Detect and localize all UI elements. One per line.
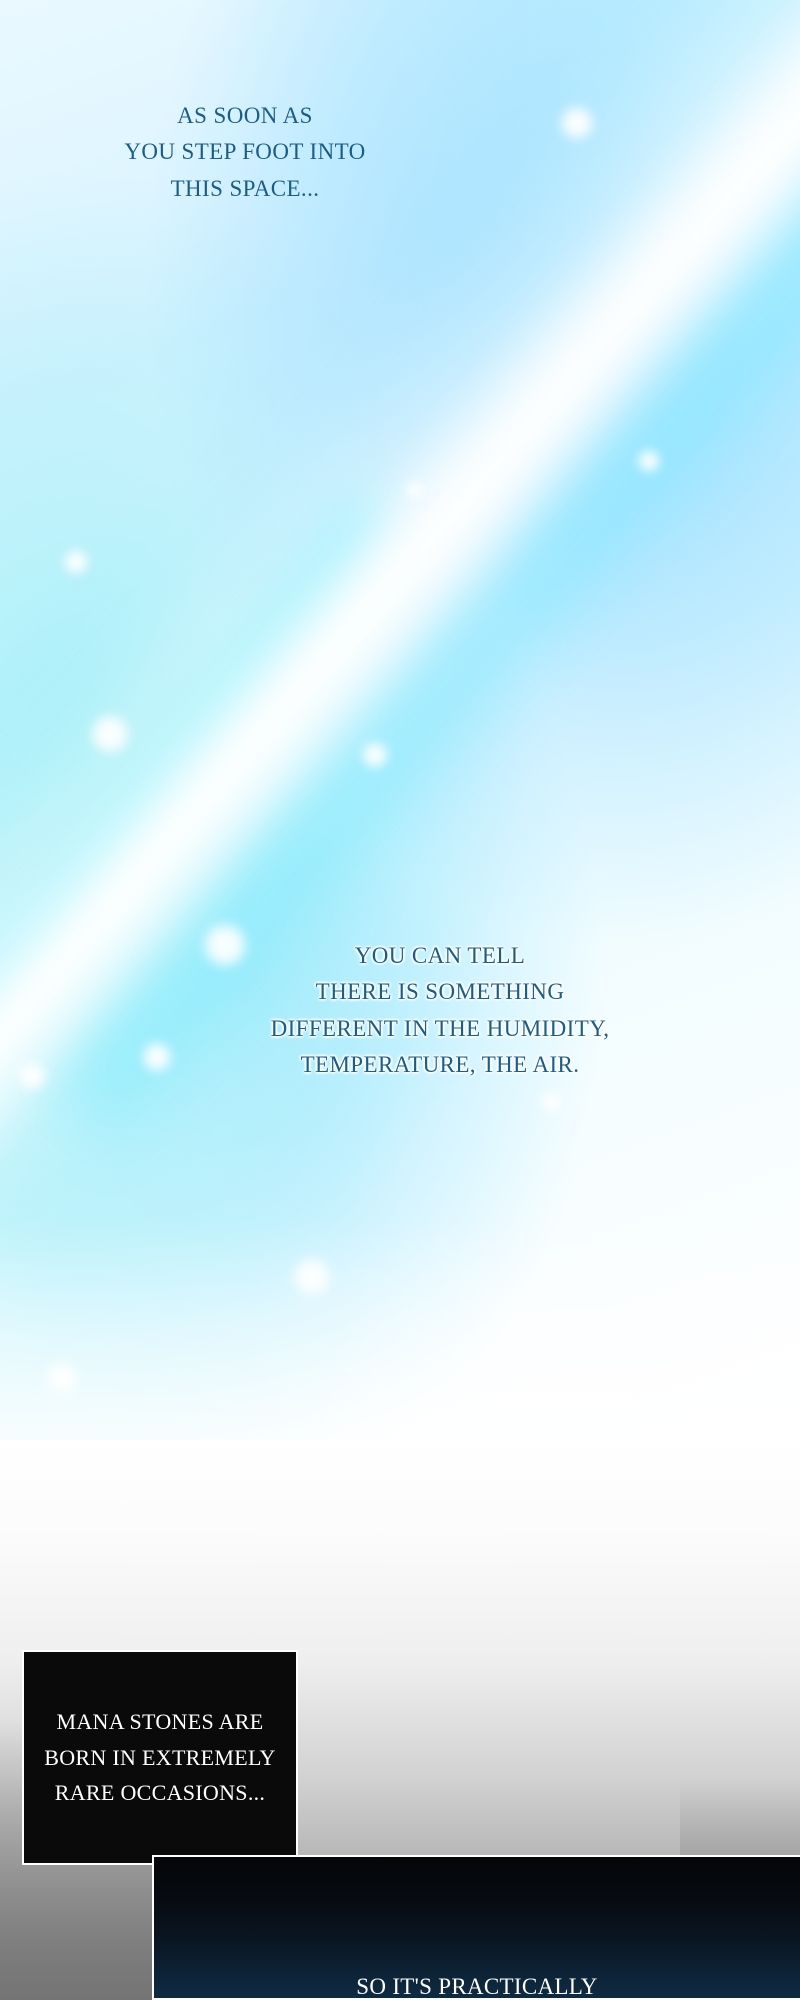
caption-sensation-line-4: TEMPERATURE, THE AIR. [190,1047,690,1083]
caption-intro: AS SOON AS YOU STEP FOOT INTO THIS SPACE… [60,98,430,207]
panel-practically: SO IT'S PRACTICALLY [152,1855,800,2000]
comic-page: AS SOON AS YOU STEP FOOT INTO THIS SPACE… [0,0,800,2000]
caption-sensation-line-2: THERE IS SOMETHING [190,974,690,1010]
bokeh-dot-icon [360,740,390,770]
bokeh-dot-icon [16,1060,48,1092]
bokeh-dot-icon [62,548,90,576]
panel-practically-text: SO IT'S PRACTICALLY [154,1969,800,2000]
panel-mana-stones-text: MANA STONES ARE BORN IN EXTREMELY RARE O… [24,1704,296,1811]
panel-mana-stones-line-1: MANA STONES [56,1709,214,1734]
panel-mana-stones-line-4: OCCASIONS... [120,1780,265,1805]
caption-intro-line-1: AS SOON AS [60,98,430,134]
bokeh-dot-icon [540,1090,564,1114]
caption-sensation-line-3: DIFFERENT IN THE HUMIDITY, [190,1011,690,1047]
caption-sensation: YOU CAN TELL THERE IS SOMETHING DIFFEREN… [190,938,690,1083]
caption-intro-line-2: YOU STEP FOOT INTO [60,134,430,170]
bokeh-dot-icon [88,712,132,756]
bokeh-dot-icon [405,480,425,500]
caption-sensation-line-1: YOU CAN TELL [190,938,690,974]
bokeh-dot-icon [140,1040,174,1074]
caption-intro-line-3: THIS SPACE... [60,171,430,207]
bokeh-dot-icon [558,104,596,142]
background-artwork [0,0,800,1580]
bokeh-dot-icon [636,448,662,474]
panel-mana-stones: MANA STONES ARE BORN IN EXTREMELY RARE O… [22,1650,298,1865]
